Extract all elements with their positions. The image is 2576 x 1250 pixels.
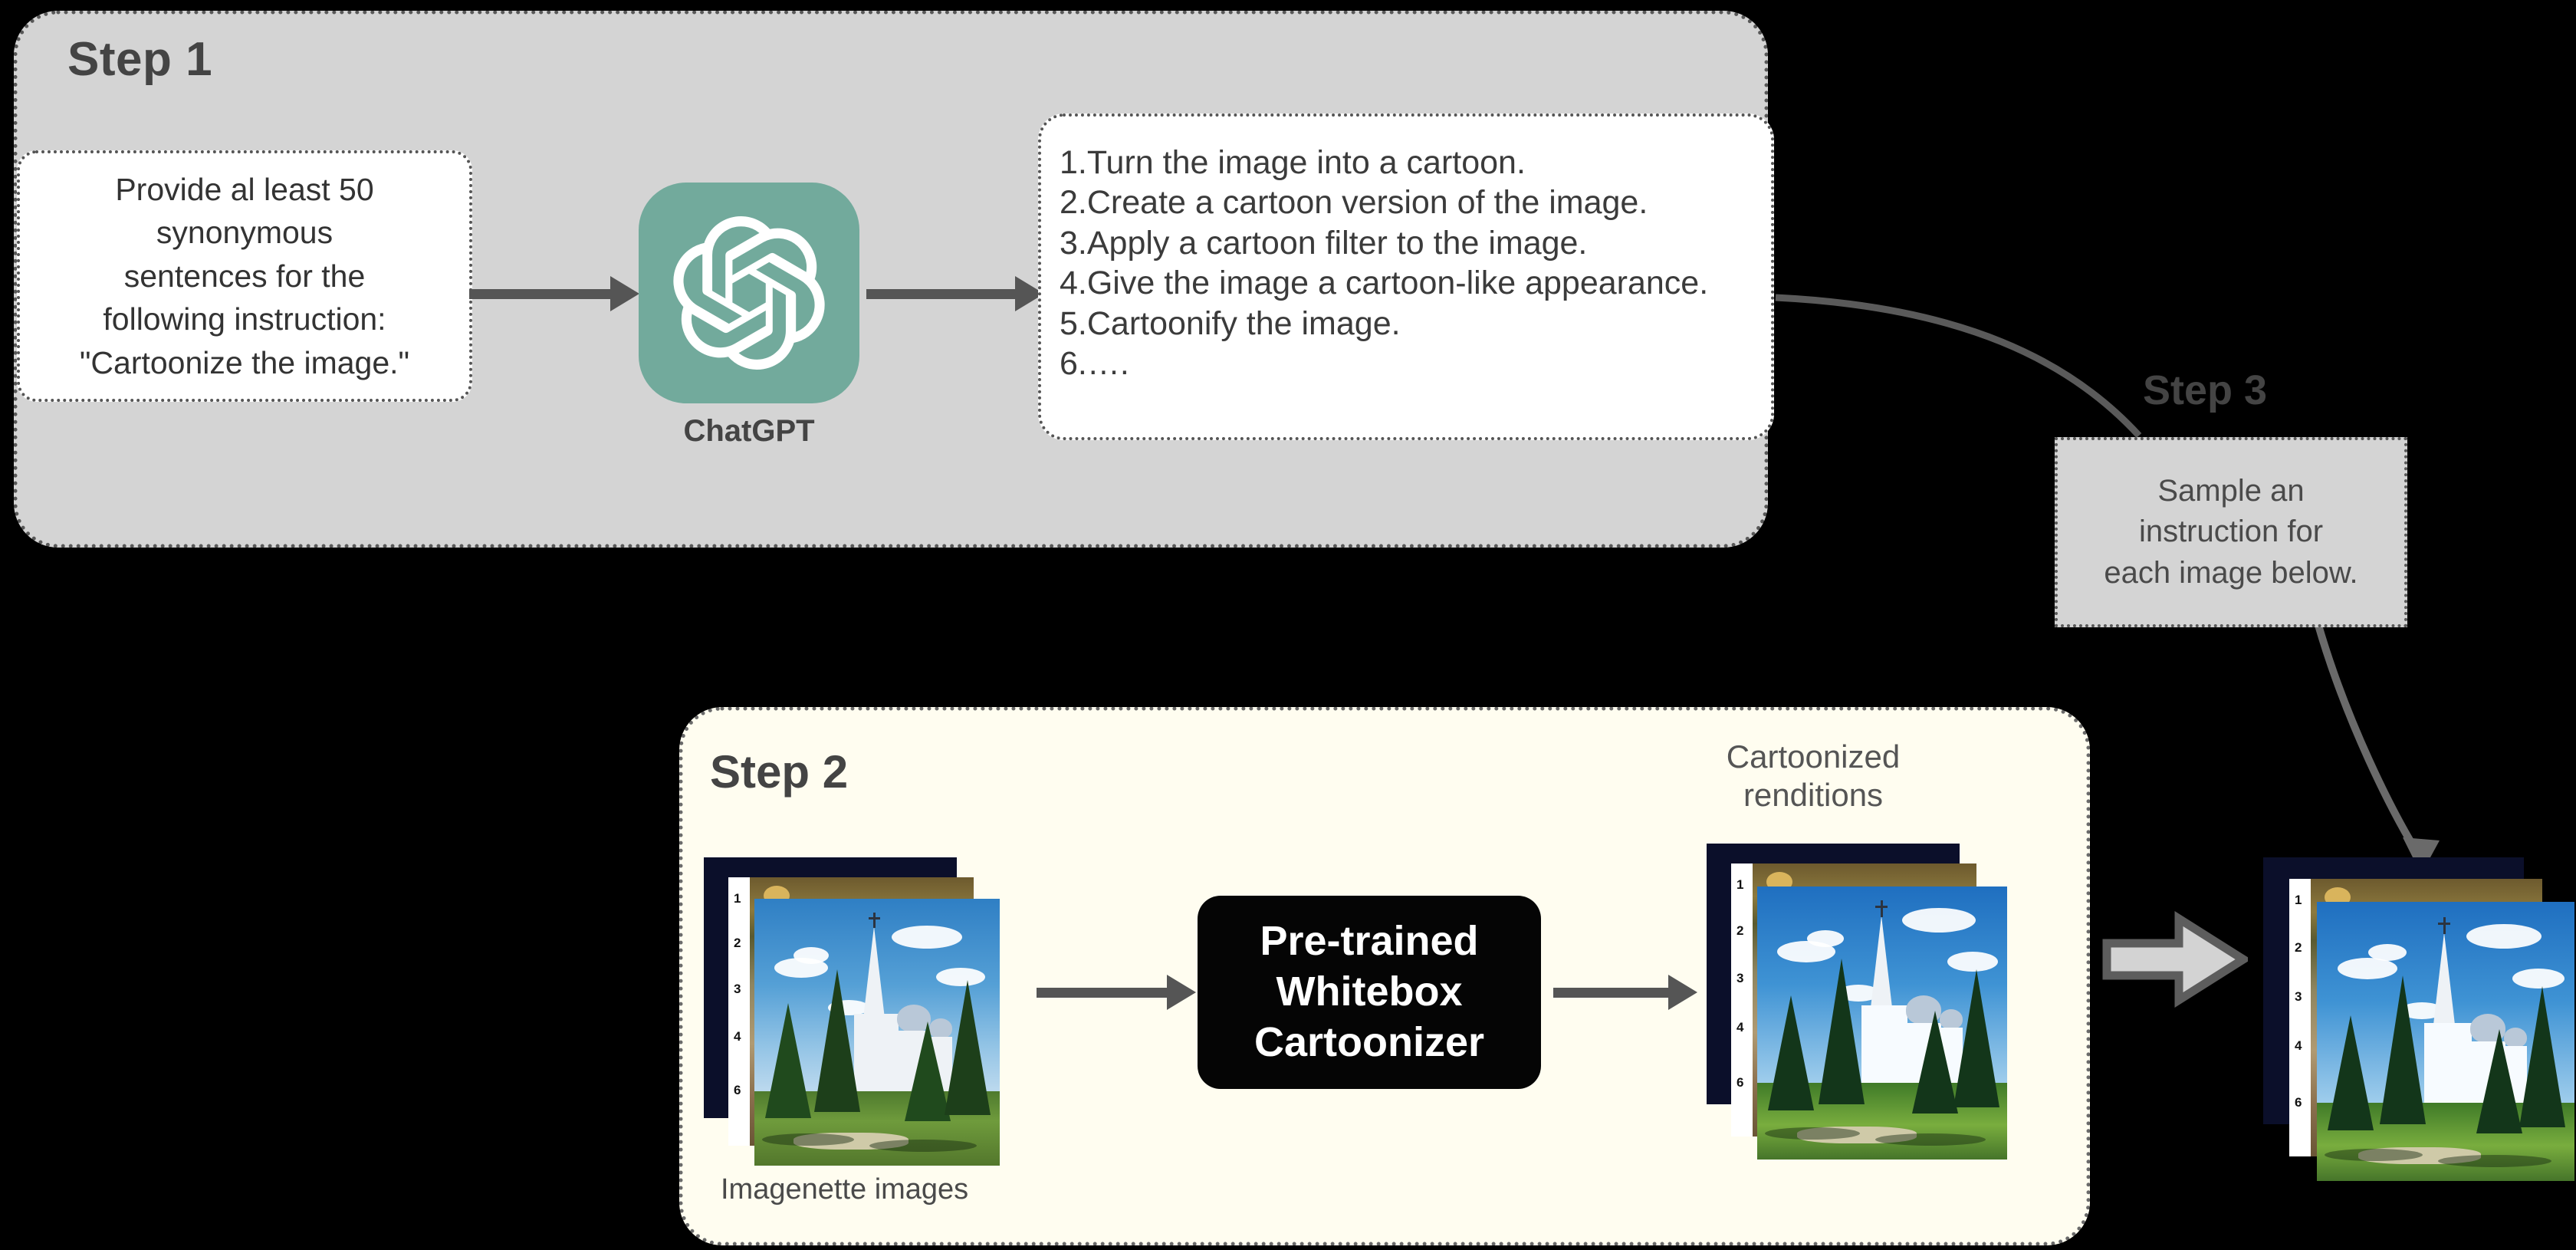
openai-knot-icon: [672, 216, 826, 370]
step3-text: Sample an instruction for each image bel…: [2104, 471, 2357, 594]
stack-card-front-photo: [754, 899, 1000, 1166]
cartoonized-image-stack: 12 34 6: [1707, 844, 2013, 1166]
cartoonizer-box: Pre-trained Whitebox Cartoonizer: [1198, 896, 1541, 1089]
list-item: 2.Create a cartoon version of the image.: [1041, 183, 1771, 222]
curve-instructions-to-step3: [1776, 298, 2139, 436]
instructions-box: 1.Turn the image into a cartoon. 2.Creat…: [1038, 113, 1774, 440]
cartoonized-renditions-label: Cartoonized renditions: [1687, 738, 1940, 815]
instruction-list: 1.Turn the image into a cartoon. 2.Creat…: [1041, 143, 1771, 384]
list-item: 4.Give the image a cartoon-like appearan…: [1041, 263, 1771, 303]
final-sampled-image-stack: 12 34 6: [2263, 857, 2576, 1187]
prompt-text: Provide al least 50 synonymous sentences…: [60, 168, 429, 385]
stack-card-front-photo: [2317, 902, 2574, 1181]
list-item: 1.Turn the image into a cartoon.: [1041, 143, 1771, 183]
stack-card-front-photo: [1757, 887, 2007, 1160]
list-item: 5.Cartoonify the image.: [1041, 304, 1771, 344]
list-item: 3.Apply a cartoon filter to the image.: [1041, 223, 1771, 263]
curve-step3-to-final-stack: [2318, 623, 2421, 859]
step2-title: Step 2: [710, 745, 848, 798]
cartoonizer-label: Pre-trained Whitebox Cartoonizer: [1254, 916, 1484, 1068]
chatgpt-label: ChatGPT: [639, 414, 859, 449]
imagenette-image-stack: 12 34 6: [704, 857, 1010, 1167]
list-item: 6.….: [1041, 344, 1771, 383]
step3-title: Step 3: [2143, 367, 2267, 414]
imagenette-images-label: Imagenette images: [721, 1173, 968, 1206]
block-arrow-to-final-stack: [2102, 910, 2248, 1013]
prompt-box: Provide al least 50 synonymous sentences…: [17, 150, 472, 402]
step1-title: Step 1: [67, 32, 212, 87]
step3-box: Sample an instruction for each image bel…: [2055, 437, 2407, 627]
chatgpt-logo: [639, 183, 859, 403]
